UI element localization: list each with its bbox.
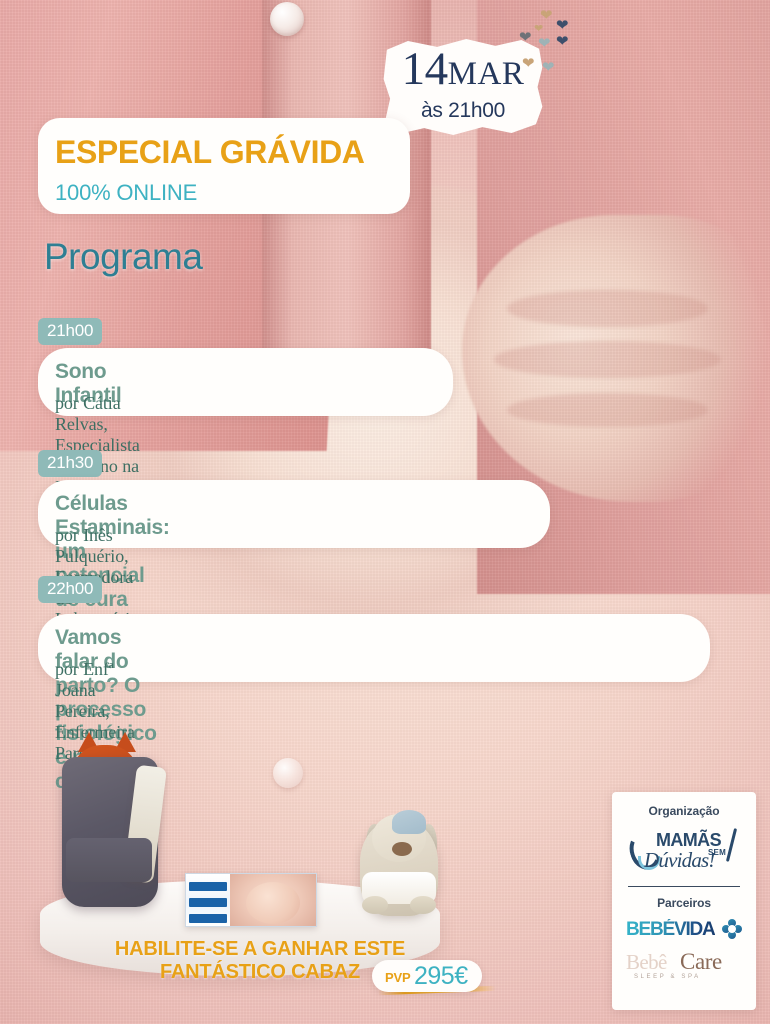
carrier-pocket [66, 838, 152, 882]
dog-paw-left [362, 896, 388, 914]
product-box [185, 873, 317, 927]
heart-icon: ❤ [522, 56, 535, 71]
bebevida-logo: BEBÉVIDA [626, 918, 744, 942]
heart-icon: ❤ [556, 34, 569, 49]
organization-label: Organização [612, 804, 756, 818]
logo-slash-icon [726, 828, 737, 862]
heart-icon: ❤ [534, 24, 543, 35]
page-title: ESPECIAL GRÁVIDA [55, 134, 365, 171]
hearts-decoration: ❤ ❤ ❤ ❤ ❤ ❤ ❤ ❤ [494, 8, 574, 86]
dog-paw-right [410, 896, 436, 914]
shirt-button-top [270, 2, 304, 36]
product-box-photo [230, 874, 317, 926]
bebecare-wordmark-bebe: Bebê [626, 950, 667, 975]
dog-cap [392, 810, 426, 834]
bebevida-wordmark: BEBÉVIDA [626, 919, 715, 941]
event-day: 14 [402, 43, 448, 95]
bebecare-logo: Bebê Care SLEEP & SPA [624, 950, 748, 984]
partners-label: Parceiros [612, 896, 756, 910]
heart-icon: ❤ [540, 8, 553, 23]
bebecare-wordmark-care: Care [680, 949, 722, 975]
dog-snout [392, 842, 412, 856]
heart-icon: ❤ [542, 60, 555, 75]
shirt-button-bottom [273, 758, 303, 788]
product-box-label [186, 874, 230, 926]
event-time: às 21h00 [382, 99, 544, 123]
cell-cluster-icon [722, 919, 742, 939]
pvp-label: PVP [385, 970, 410, 985]
promo-line-1: HABILITE-SE A GANHAR ESTE [0, 938, 520, 961]
heart-icon: ❤ [556, 18, 569, 33]
heart-icon: ❤ [519, 30, 532, 45]
time-badge: 22h00 [38, 576, 102, 603]
heart-icon: ❤ [538, 36, 551, 51]
section-heading-programa: Programa [44, 236, 202, 278]
time-badge: 21h00 [38, 318, 102, 345]
mamas-sem-duvidas-logo: MAMÃS SEM Dúvidas! [624, 826, 746, 878]
time-badge: 21h30 [38, 450, 102, 477]
title-subtitle: 100% ONLINE [55, 180, 197, 206]
bebecare-tagline: SLEEP & SPA [634, 974, 701, 980]
pvp-value: 295€ [414, 962, 468, 991]
logo-word-duvidas: Dúvidas! [644, 848, 715, 873]
sponsor-divider [628, 886, 740, 887]
